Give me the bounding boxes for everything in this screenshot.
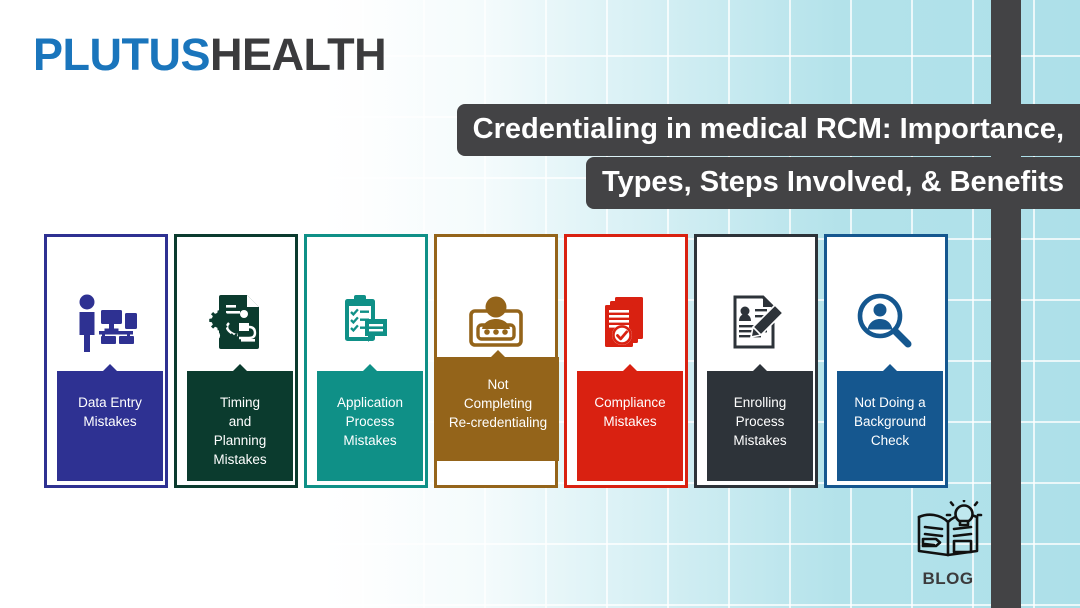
- mistake-card[interactable]: Data EntryMistakes: [44, 234, 168, 488]
- card-label-line: Re-credentialing: [449, 415, 547, 430]
- card-label-line: Application: [337, 395, 403, 410]
- card-label-line: Timing: [220, 395, 260, 410]
- card-icon-wrapper: [177, 283, 295, 361]
- document-pencil-icon: [723, 289, 789, 355]
- card-icon-wrapper: [307, 283, 425, 361]
- id-badge-icon: [463, 289, 529, 355]
- document-gear-flowchart-icon: [203, 289, 269, 355]
- mistake-card[interactable]: TimingandPlanningMistakes: [174, 234, 298, 488]
- card-label-line: Mistakes: [603, 414, 656, 429]
- brand-logo-plutus: PLUTUS: [33, 29, 210, 80]
- card-label-line: Not: [487, 377, 508, 392]
- mistake-card[interactable]: NotCompletingRe-credentialing: [434, 234, 558, 488]
- card-label-line: Mistakes: [733, 433, 786, 448]
- card-label-text: Data EntryMistakes: [78, 393, 142, 431]
- card-label-line: Planning: [214, 433, 267, 448]
- blog-badge: BLOG: [912, 500, 984, 589]
- card-label-line: Check: [871, 433, 909, 448]
- mistake-card[interactable]: ApplicationProcessMistakes: [304, 234, 428, 488]
- card-label-block: Not Doing aBackgroundCheck: [837, 371, 943, 481]
- card-label-block: NotCompletingRe-credentialing: [437, 357, 559, 461]
- card-icon-wrapper: [567, 283, 685, 361]
- documents-check-icon: [593, 289, 659, 355]
- mistake-cards-row: Data EntryMistakesTimingandPlanningMista…: [44, 234, 948, 488]
- mistake-card[interactable]: Not Doing aBackgroundCheck: [824, 234, 948, 488]
- card-label-text: ComplianceMistakes: [594, 393, 665, 431]
- card-label-line: and: [229, 414, 252, 429]
- brand-logo-health: HEALTH: [210, 29, 386, 80]
- card-label-line: Enrolling: [734, 395, 787, 410]
- card-label-line: Background: [854, 414, 926, 429]
- person-at-desk-icon: [73, 289, 139, 355]
- mistake-card[interactable]: EnrollingProcessMistakes: [694, 234, 818, 488]
- title-banner: Credentialing in medical RCM: Importance…: [0, 104, 1080, 209]
- card-label-line: Completing: [464, 396, 532, 411]
- title-line-1: Credentialing in medical RCM: Importance…: [457, 104, 1080, 156]
- card-label-line: Mistakes: [83, 414, 136, 429]
- card-label-text: EnrollingProcessMistakes: [733, 393, 786, 450]
- card-label-line: Mistakes: [343, 433, 396, 448]
- card-icon-wrapper: [47, 283, 165, 361]
- card-label-text: Not Doing aBackgroundCheck: [854, 393, 926, 450]
- title-line-2: Types, Steps Involved, & Benefits: [586, 157, 1080, 209]
- card-label-block: ApplicationProcessMistakes: [317, 371, 423, 481]
- card-label-block: EnrollingProcessMistakes: [707, 371, 813, 481]
- person-magnifier-icon: [853, 289, 919, 355]
- card-label-line: Process: [346, 414, 395, 429]
- card-label-text: NotCompletingRe-credentialing: [449, 375, 547, 432]
- mistake-card[interactable]: ComplianceMistakes: [564, 234, 688, 488]
- card-label-line: Not Doing a: [854, 395, 925, 410]
- card-label-block: Data EntryMistakes: [57, 371, 163, 481]
- card-label-line: Data Entry: [78, 395, 142, 410]
- card-label-block: TimingandPlanningMistakes: [187, 371, 293, 481]
- right-vertical-accent-bar: [991, 0, 1021, 608]
- brand-logo: PLUTUSHEALTH: [33, 32, 386, 77]
- open-book-lightbulb-icon: [912, 500, 984, 562]
- card-label-line: Mistakes: [213, 452, 266, 467]
- card-icon-wrapper: [827, 283, 945, 361]
- card-label-line: Compliance: [594, 395, 665, 410]
- blog-label: BLOG: [912, 569, 984, 589]
- card-label-text: ApplicationProcessMistakes: [337, 393, 403, 450]
- card-label-block: ComplianceMistakes: [577, 371, 683, 481]
- card-label-text: TimingandPlanningMistakes: [213, 393, 266, 470]
- card-label-line: Process: [736, 414, 785, 429]
- clipboard-checklist-icon: [333, 289, 399, 355]
- card-icon-wrapper: [697, 283, 815, 361]
- infographic-canvas: PLUTUSHEALTH Credentialing in medical RC…: [0, 0, 1080, 608]
